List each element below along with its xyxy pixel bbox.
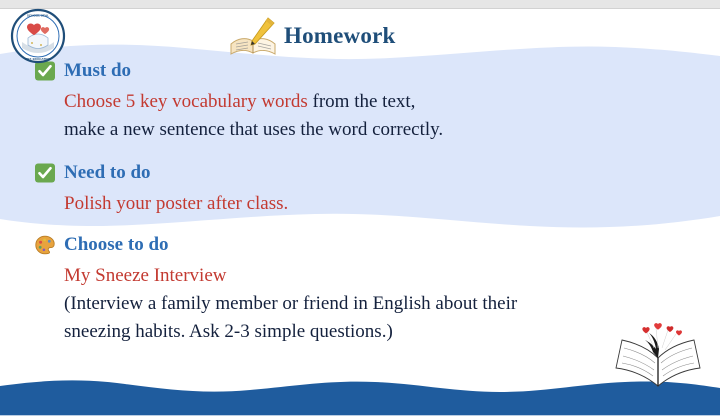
section-body-line: Polish your poster after class.	[64, 190, 288, 218]
green-check-box-icon	[34, 162, 56, 184]
body-span-red: Choose 5 key vocabulary words	[64, 91, 308, 112]
section-title: Must do	[64, 60, 131, 82]
section-header-need-to-do: Need to do	[34, 160, 288, 186]
section-must-do: Must do Choose 5 key vocabulary words fr…	[34, 58, 443, 144]
page-title: Homework	[284, 23, 395, 49]
section-body-line: Choose 5 key vocabulary words from the t…	[64, 88, 443, 116]
slide-canvas: SCHOOL SEAL EST. EDUCATION Homewor	[0, 0, 720, 416]
page-header: Homework	[228, 16, 395, 56]
body-span-red: My Sneeze Interview	[64, 265, 227, 286]
svg-text:EST. EDUCATION: EST. EDUCATION	[25, 57, 51, 61]
body-span-dark: sneezing habits. Ask 2-3 simple question…	[64, 321, 393, 342]
section-title: Choose to do	[64, 234, 169, 256]
section-body-line: sneezing habits. Ask 2-3 simple question…	[64, 318, 517, 346]
section-title: Need to do	[64, 162, 151, 184]
open-book-with-quill-icon	[228, 16, 280, 56]
svg-text:SCHOOL SEAL: SCHOOL SEAL	[27, 13, 49, 17]
section-body-line: My Sneeze Interview	[64, 262, 517, 290]
section-body-line: (Interview a family member or friend in …	[64, 290, 517, 318]
section-need-to-do: Need to do Polish your poster after clas…	[34, 160, 288, 218]
school-seal-logo: SCHOOL SEAL EST. EDUCATION	[10, 8, 66, 64]
artist-palette-icon	[34, 234, 56, 256]
body-span-dark: (Interview a family member or friend in …	[64, 293, 517, 314]
body-span-red: Polish your poster after class.	[64, 193, 288, 214]
content-area: Must do Choose 5 key vocabulary words fr…	[0, 0, 720, 416]
body-span-dark: make a new sentence that uses the word c…	[64, 119, 443, 140]
section-body-line: make a new sentence that uses the word c…	[64, 116, 443, 144]
section-header-must-do: Must do	[34, 58, 443, 84]
body-span-dark: from the text,	[308, 91, 416, 112]
section-choose-to-do: Choose to do My Sneeze Interview (Interv…	[34, 232, 517, 346]
section-header-choose-to-do: Choose to do	[34, 232, 517, 258]
